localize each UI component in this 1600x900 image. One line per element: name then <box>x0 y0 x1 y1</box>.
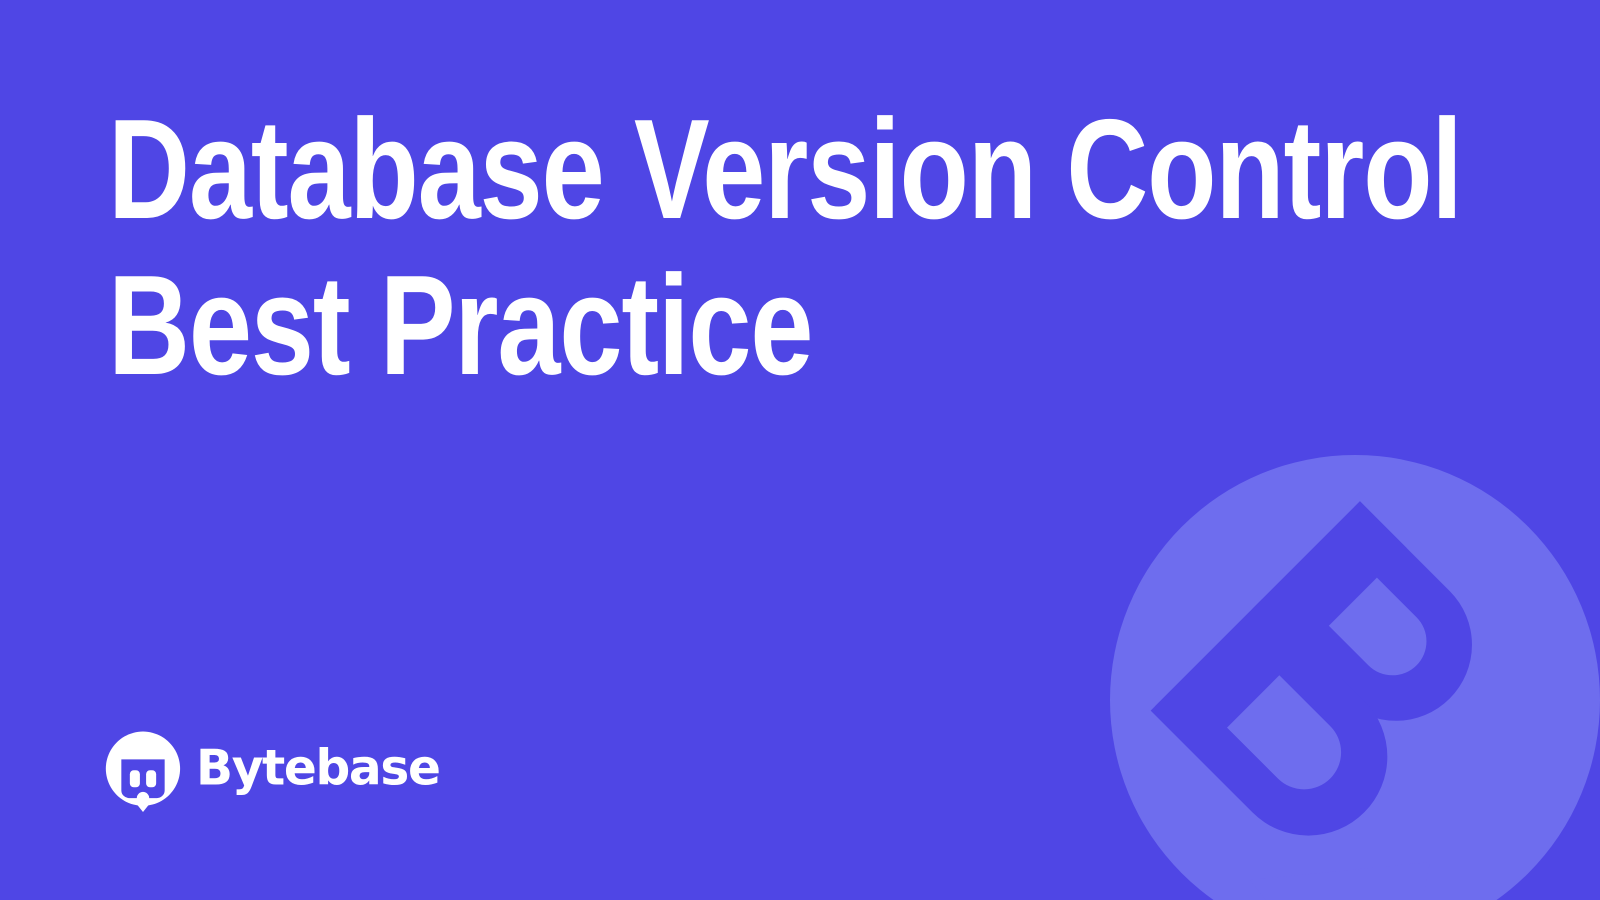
brand-logo-lockup: Bytebase <box>104 730 466 812</box>
bytebase-wordmark: Bytebase <box>196 744 466 798</box>
title-line-1: Database Version Control <box>108 92 1228 248</box>
title-line-2: Best Practice <box>108 248 1228 404</box>
bytebase-logo-icon <box>104 730 182 812</box>
cover-card: Database Version Control Best Practice B… <box>0 0 1600 900</box>
watermark-letter-b <box>1151 501 1518 868</box>
bytebase-wordmark-text: Bytebase <box>196 744 440 797</box>
watermark-bubble <box>1110 455 1600 900</box>
page-title: Database Version Control Best Practice <box>108 92 1508 404</box>
